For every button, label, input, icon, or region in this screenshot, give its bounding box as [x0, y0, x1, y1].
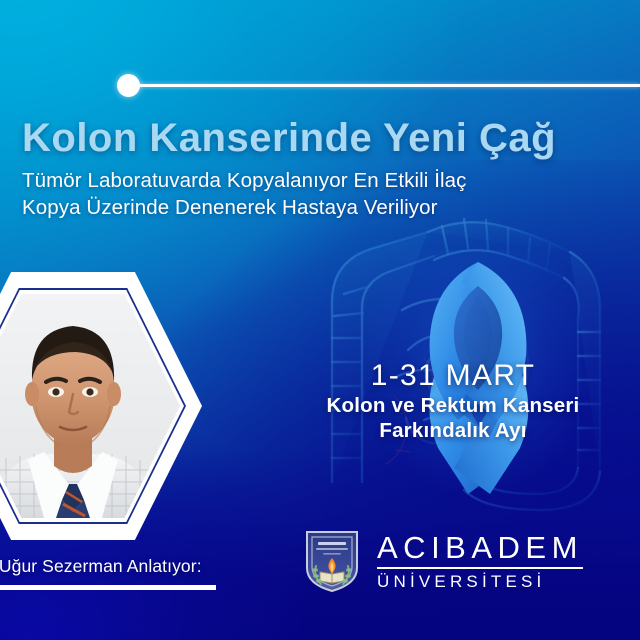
awareness-line-2: Kolon ve Rektum Kanseri: [288, 394, 618, 418]
awareness-month-block: 1-31 MART Kolon ve Rektum Kanseri Farkın…: [288, 360, 618, 443]
brand-divider: [377, 567, 583, 569]
brand-lockup: ACIBADEM ÜNİVERSİTESİ: [303, 528, 583, 594]
decorative-rule: [132, 84, 640, 87]
subtitle-line-2: Kopya Üzerinde Denenerek Hastaya Veriliy…: [22, 195, 622, 222]
speaker-caption-underline: [0, 585, 216, 590]
brand-wordmark: ACIBADEM ÜNİVERSİTESİ: [377, 532, 583, 590]
poster-canvas: Kolon Kanserinde Yeni Çağ Tümör Laboratu…: [0, 0, 640, 640]
awareness-date-range: 1-31 MART: [288, 360, 618, 392]
speaker-caption: r. Uğur Sezerman Anlatıyor:: [0, 556, 202, 577]
subtitle-line-1: Tümör Laboratuvarda Kopyalanıyor En Etki…: [22, 168, 622, 195]
acibadem-university-crest-icon: [303, 528, 361, 594]
awareness-line-3: Farkındalık Ayı: [288, 419, 618, 443]
brand-name: ACIBADEM: [377, 532, 583, 563]
decorative-dot: [117, 74, 140, 97]
page-title: Kolon Kanserinde Yeni Çağ: [22, 118, 622, 158]
brand-subname: ÜNİVERSİTESİ: [377, 573, 583, 590]
headline-block: Kolon Kanserinde Yeni Çağ Tümör Laboratu…: [22, 118, 622, 221]
